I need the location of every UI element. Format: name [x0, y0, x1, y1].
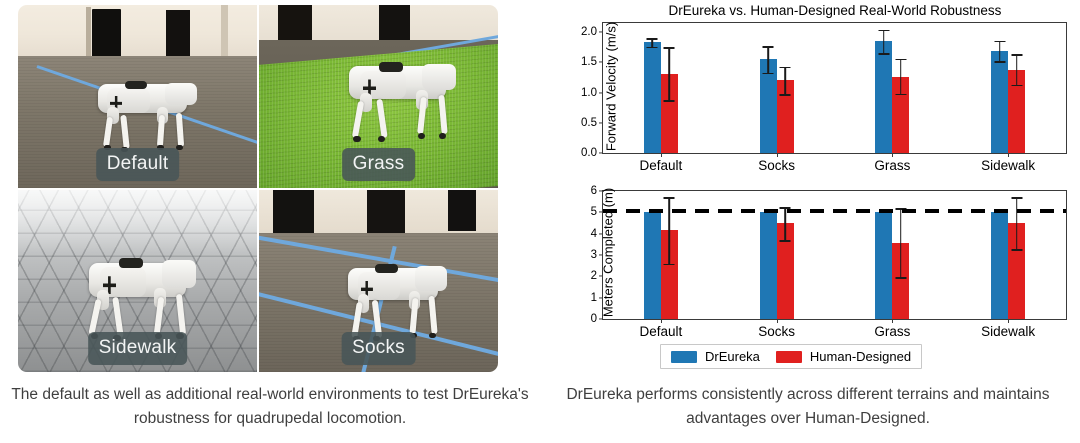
- error-bar-cap: [878, 30, 889, 32]
- y-tick-label: 0.5: [581, 117, 597, 129]
- quadruped-robot: [80, 60, 204, 155]
- error-bar-cap: [994, 41, 1005, 43]
- error-bar: [999, 41, 1001, 62]
- x-tick-mark: [661, 153, 662, 157]
- error-bar: [900, 59, 902, 94]
- error-bar: [669, 47, 671, 100]
- y-tick-label: 0.0: [581, 147, 597, 159]
- error-bar-cap: [664, 100, 675, 102]
- y-tick-mark: [599, 276, 603, 277]
- bar-dreureka-grass: [875, 41, 892, 153]
- error-bar: [767, 46, 769, 73]
- chart-legend: DrEureka Human-Designed: [660, 344, 922, 369]
- error-bar-cap: [895, 94, 906, 96]
- quadruped-robot: [331, 241, 455, 347]
- y-tick-label: 2.0: [581, 26, 597, 38]
- bar-dreureka-default: [644, 212, 661, 319]
- x-tick-mark: [777, 319, 778, 323]
- error-bar: [669, 197, 671, 264]
- error-bar-cap: [664, 264, 675, 266]
- chart-meters-completed: Meters Completed (m) 0123456DefaultSocks…: [602, 190, 1067, 320]
- x-tick-mark: [892, 153, 893, 157]
- quadruped-robot: [331, 38, 465, 148]
- photo-label-grass: Grass: [342, 148, 416, 181]
- photo-default[interactable]: Default: [18, 5, 257, 188]
- photo-socks[interactable]: Socks: [259, 190, 498, 373]
- error-bar-cap: [664, 197, 675, 199]
- environment-photo-panel: Default: [18, 5, 498, 372]
- figure-root: Default: [0, 0, 1080, 443]
- error-bar-cap: [780, 94, 791, 96]
- quadruped-robot: [71, 233, 205, 346]
- legend-label-dreureka: DrEureka: [705, 349, 760, 364]
- y-axis-label-meters: Meters Completed (m): [601, 153, 616, 353]
- error-bar-cap: [1011, 197, 1022, 199]
- bar-dreureka-sidewalk: [991, 212, 1008, 319]
- y-tick-label: 1: [591, 292, 597, 304]
- error-bar-cap: [1011, 85, 1022, 87]
- y-tick-label: 1.0: [581, 87, 597, 99]
- bar-dreureka-grass: [875, 212, 892, 319]
- x-tick-mark: [777, 153, 778, 157]
- x-tick-label: Grass: [874, 324, 910, 339]
- error-bar: [900, 208, 902, 277]
- bar-dreureka-socks: [760, 212, 777, 319]
- bar-dreureka-sidewalk: [991, 51, 1008, 153]
- error-bar-cap: [664, 47, 675, 49]
- photo-sidewalk[interactable]: Sidewalk: [18, 190, 257, 373]
- y-tick-label: 2: [591, 270, 597, 282]
- error-bar-cap: [878, 53, 889, 55]
- y-tick-label: 5: [591, 206, 597, 218]
- error-bar-cap: [647, 47, 658, 49]
- robustness-figure: DrEureka vs. Human-Designed Real-World R…: [540, 0, 1080, 375]
- legend-swatch-human-designed: [776, 351, 802, 363]
- error-bar: [1016, 197, 1018, 249]
- y-tick-mark: [599, 62, 603, 63]
- x-tick-mark: [1008, 153, 1009, 157]
- error-bar-cap: [1011, 249, 1022, 251]
- y-tick-mark: [599, 190, 603, 191]
- chart-title: DrEureka vs. Human-Designed Real-World R…: [600, 3, 1070, 18]
- y-tick-label: 3: [591, 249, 597, 261]
- error-bar-cap: [895, 59, 906, 61]
- error-bar-cap: [647, 38, 658, 40]
- x-tick-mark: [1008, 319, 1009, 323]
- y-tick-label: 6: [591, 185, 597, 197]
- photo-label-socks: Socks: [341, 332, 416, 365]
- y-tick-mark: [599, 92, 603, 93]
- x-tick-label: Socks: [758, 158, 795, 173]
- chart-forward-velocity: Forward Velocity (m/s) 0.00.51.01.52.0De…: [602, 22, 1067, 154]
- y-tick-label: 1.5: [581, 56, 597, 68]
- y-tick-mark: [599, 318, 603, 319]
- x-tick-label: Default: [639, 324, 682, 339]
- x-tick-label: Socks: [758, 324, 795, 339]
- error-bar-cap: [763, 73, 774, 75]
- x-tick-label: Sidewalk: [981, 324, 1035, 339]
- legend-swatch-dreureka: [671, 351, 697, 363]
- error-bar-cap: [1011, 54, 1022, 56]
- photo-label-sidewalk: Sidewalk: [88, 332, 188, 365]
- photo-grid: Default: [18, 5, 498, 372]
- y-tick-label: 4: [591, 228, 597, 240]
- bar-dreureka-default: [644, 42, 661, 153]
- error-bar: [1016, 54, 1018, 84]
- x-tick-mark: [661, 319, 662, 323]
- threshold-dashed-line: [603, 209, 1066, 213]
- x-tick-label: Grass: [874, 158, 910, 173]
- photo-grass[interactable]: Grass: [259, 5, 498, 188]
- error-bar-cap: [994, 61, 1005, 63]
- y-tick-mark: [599, 32, 603, 33]
- caption-left: The default as well as additional real-w…: [10, 383, 530, 431]
- error-bar-cap: [763, 46, 774, 48]
- error-bar: [784, 67, 786, 95]
- y-tick-label: 0: [591, 313, 597, 325]
- legend-label-human-designed: Human-Designed: [810, 349, 911, 364]
- error-bar-cap: [780, 67, 791, 69]
- caption-right: DrEureka performs consistently across di…: [548, 383, 1068, 431]
- error-bar-cap: [780, 240, 791, 242]
- y-tick-mark: [599, 122, 603, 123]
- legend-item-human-designed: Human-Designed: [776, 349, 911, 364]
- y-tick-mark: [599, 233, 603, 234]
- photo-label-default: Default: [96, 148, 180, 181]
- y-tick-mark: [599, 254, 603, 255]
- x-tick-label: Sidewalk: [981, 158, 1035, 173]
- x-tick-label: Default: [639, 158, 682, 173]
- error-bar-cap: [895, 277, 906, 279]
- x-tick-mark: [892, 319, 893, 323]
- error-bar: [883, 30, 885, 54]
- y-tick-mark: [599, 297, 603, 298]
- legend-item-dreureka: DrEureka: [671, 349, 760, 364]
